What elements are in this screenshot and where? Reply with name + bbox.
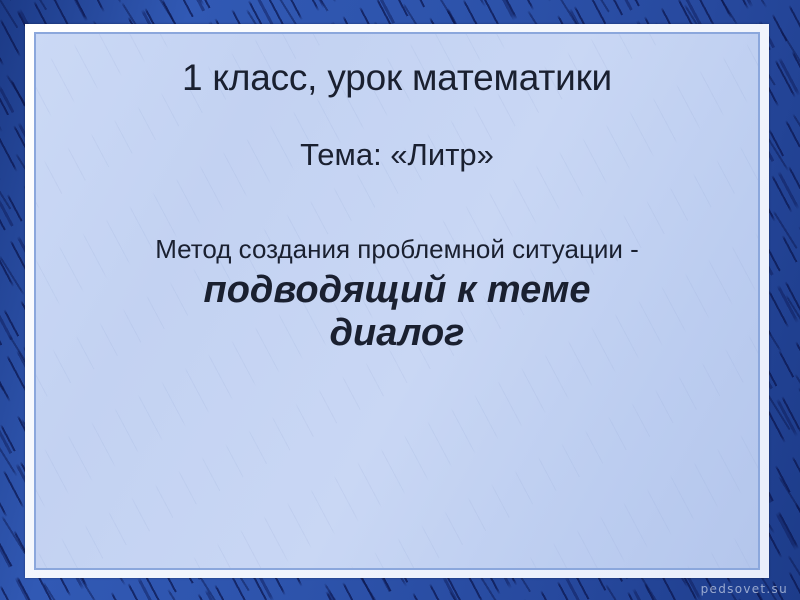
presentation-slide: 1 класс, урок математики Тема: «Литр» Ме…	[0, 0, 800, 600]
slide-theme-line: Тема: «Литр»	[46, 137, 748, 173]
slide-title: 1 класс, урок математики	[46, 57, 748, 98]
slide-content-panel: 1 класс, урок математики Тема: «Литр» Ме…	[36, 34, 758, 568]
slide-text-content: 1 класс, урок математики Тема: «Литр» Ме…	[36, 34, 758, 354]
slide-white-mat-frame: 1 класс, урок математики Тема: «Литр» Ме…	[25, 24, 769, 578]
slide-method-prefix: Метод создания проблемной ситуации -	[46, 235, 748, 265]
site-watermark: pedsovet.su	[701, 582, 788, 596]
slide-method-emphasis: подводящий к теме диалог	[46, 269, 748, 354]
